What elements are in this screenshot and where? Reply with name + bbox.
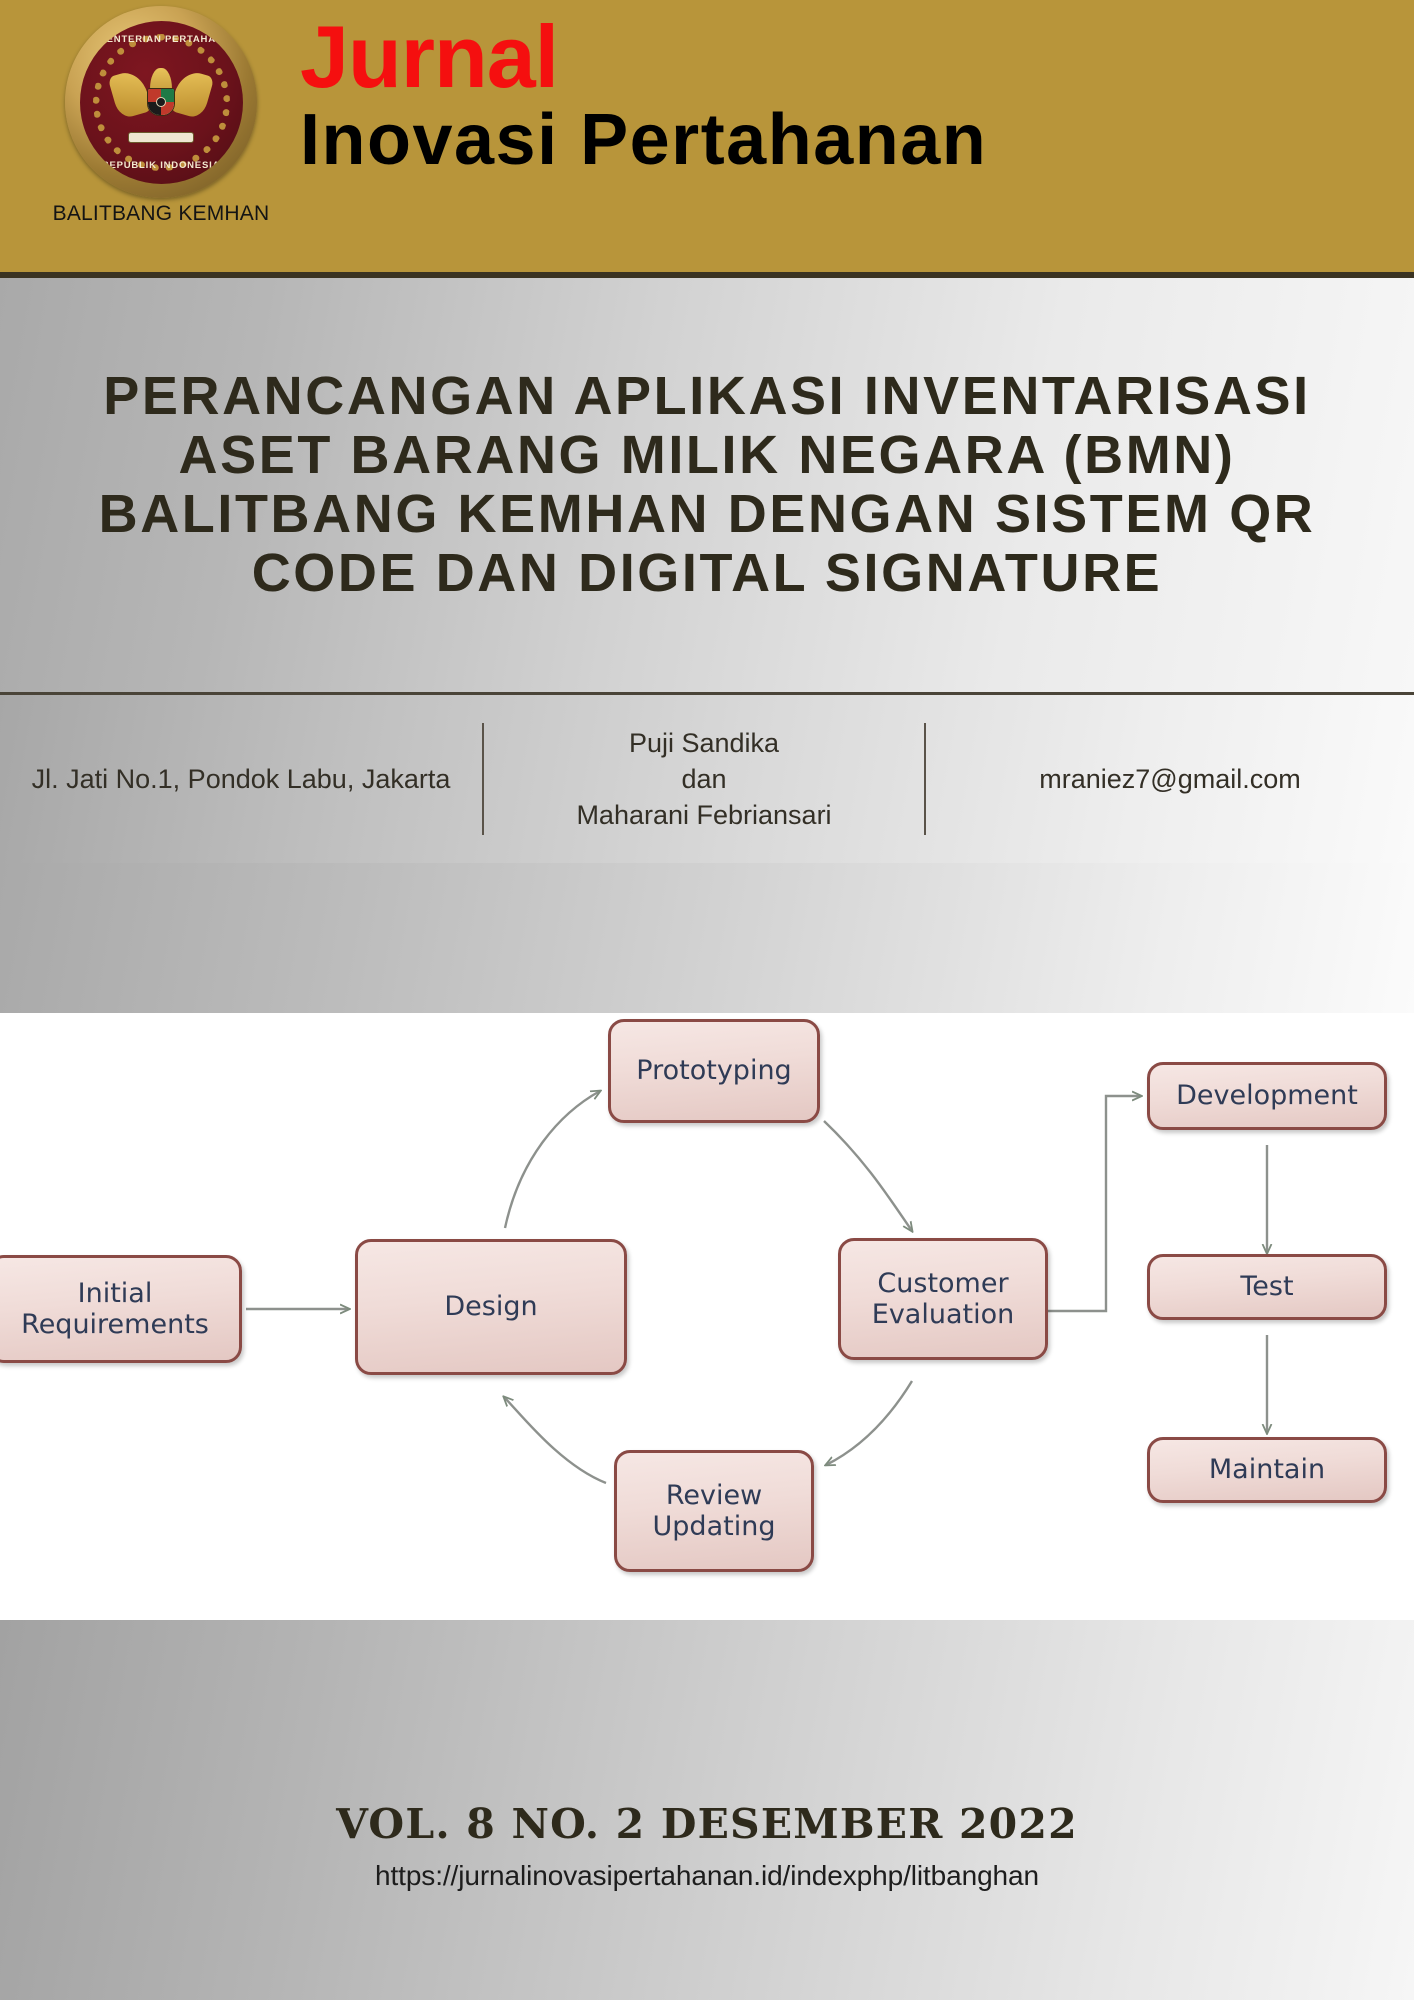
garuda-ribbon: [128, 132, 194, 143]
meta-band: Jl. Jati No.1, Pondok Labu, Jakarta Puji…: [0, 695, 1414, 863]
node-prototyping[interactable]: Prototyping: [608, 1019, 820, 1123]
page-title: PERANCANGAN APLIKASI INVENTARISASI ASET …: [28, 367, 1386, 602]
seal-inner: KEMENTERIAN PERTAHANAN: [80, 21, 243, 184]
pancasila-shield-icon: [147, 88, 175, 116]
node-initial-requirements[interactable]: Initial Requirements: [0, 1255, 242, 1363]
journal-url[interactable]: https://jurnalinovasipertahanan.id/index…: [0, 1860, 1414, 1892]
header-band: KEMENTERIAN PERTAHANAN: [0, 0, 1414, 272]
node-design[interactable]: Design: [355, 1239, 627, 1375]
garuda-icon: [115, 64, 207, 140]
seal-bottom-text: REPUBLIK INDONESIA: [80, 160, 243, 171]
shield-center-star: [156, 97, 166, 107]
node-customer-evaluation[interactable]: Customer Evaluation: [838, 1238, 1048, 1360]
affiliation-address: Jl. Jati No.1, Pondok Labu, Jakarta: [0, 723, 482, 835]
contact-email: mraniez7@gmail.com: [926, 723, 1414, 835]
masthead-line-inovasi-pertahanan: Inovasi Pertahanan: [300, 104, 1390, 177]
edge-design-prototyping: [505, 1091, 600, 1228]
masthead-line-jurnal: Jurnal: [300, 14, 1390, 100]
edge-customer-development: [1048, 1096, 1141, 1311]
node-maintain[interactable]: Maintain: [1147, 1437, 1387, 1503]
node-development[interactable]: Development: [1147, 1062, 1387, 1130]
journal-cover: KEMENTERIAN PERTAHANAN: [0, 0, 1414, 2000]
volume-issue-line: VOL. 8 NO. 2 DESEMBER 2022: [0, 1800, 1414, 1848]
masthead: Jurnal Inovasi Pertahanan: [300, 14, 1390, 178]
author-names: Puji Sandika dan Maharani Febriansari: [484, 723, 924, 835]
seal-top-text: KEMENTERIAN PERTAHANAN: [80, 34, 243, 45]
edge-review-design: [504, 1397, 606, 1483]
logo-block: KEMENTERIAN PERTAHANAN: [36, 6, 286, 226]
title-band: PERANCANGAN APLIKASI INVENTARISASI ASET …: [0, 278, 1414, 692]
logo-caption: BALITBANG KEMHAN: [53, 202, 270, 226]
garuda-wing-left: [108, 68, 153, 120]
meta-spacer-band: [0, 863, 1414, 1013]
prototyping-model-diagram: Initial Requirements Design Prototyping …: [0, 1013, 1414, 1620]
edge-prototyping-customer: [824, 1121, 912, 1231]
edge-customer-review: [826, 1381, 912, 1465]
node-review-updating[interactable]: Review Updating: [614, 1450, 814, 1572]
kemhan-seal-icon: KEMENTERIAN PERTAHANAN: [65, 6, 257, 198]
node-test[interactable]: Test: [1147, 1254, 1387, 1320]
